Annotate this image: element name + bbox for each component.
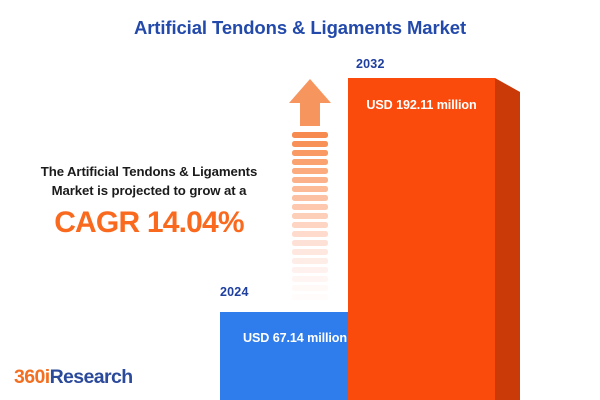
infographic-canvas: Artificial Tendons & Ligaments Market Th… — [0, 0, 600, 400]
caption-lead-text: The Artificial Tendons & Ligaments Marke… — [8, 162, 290, 200]
caption-block: The Artificial Tendons & Ligaments Marke… — [8, 162, 290, 240]
logo-text-research: Research — [50, 366, 133, 388]
bar-2032-value-label: USD 192.11 million — [348, 78, 495, 400]
caption-lead-line-2: Market is projected to grow at a — [52, 183, 247, 198]
bar-2032: USD 192.11 million — [348, 78, 520, 400]
cagr-highlight: CAGR 14.04% — [8, 206, 290, 240]
growth-arrow-icon — [288, 78, 332, 303]
bar-label-2032: 2032 — [356, 57, 385, 71]
brand-logo: 360iResearch — [14, 366, 133, 389]
caption-lead-line-1: The Artificial Tendons & Ligaments — [41, 164, 257, 179]
page-title: Artificial Tendons & Ligaments Market — [0, 17, 600, 39]
bar-2032-side-face — [495, 78, 520, 400]
bar-label-2024: 2024 — [220, 285, 249, 299]
logo-text-360: 360 — [14, 366, 45, 388]
